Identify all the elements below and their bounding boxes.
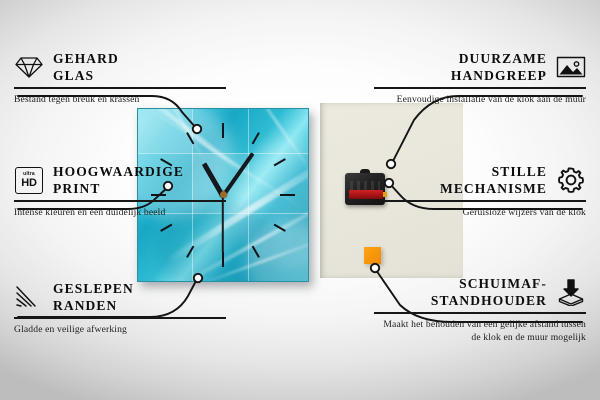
hd-badge-big-label: HD: [21, 178, 37, 189]
feature-title: GEHARD GLAS: [53, 50, 119, 84]
feature-header: SCHUIMAF- STANDHOUDER: [374, 275, 586, 309]
feature-title: HOOGWAARDIGE PRINT: [53, 163, 184, 197]
feature-mechanisme: STILLE MECHANISME Geruisloze wijzers van…: [374, 163, 586, 219]
feature-description: Bestand tegen breuk en krassen: [14, 93, 226, 106]
ultra-hd-badge-icon: ultra HD: [14, 165, 44, 195]
diagonal-lines-icon: [14, 282, 44, 312]
feature-divider: [374, 87, 586, 89]
feature-description: Intense kleuren en een duidelijk beeld: [14, 206, 226, 219]
feature-divider: [374, 312, 586, 314]
product-infographic: GEHARD GLAS Bestand tegen breuk en krass…: [0, 0, 600, 400]
feature-header: ultra HD HOOGWAARDIGE PRINT: [14, 163, 226, 197]
clock-tick-3: [280, 194, 295, 196]
diamond-icon: [14, 52, 44, 82]
foam-spacer-pad: [364, 247, 381, 264]
feature-header: STILLE MECHANISME: [374, 163, 586, 197]
feature-description: Eenvoudige installatie van de klok aan d…: [374, 93, 586, 106]
arrow-down-pad-icon: [556, 277, 586, 307]
feature-divider: [14, 200, 226, 202]
clock-tick-1: [252, 132, 260, 144]
gear-icon: [556, 165, 586, 195]
hd-badge: ultra HD: [15, 167, 43, 194]
hd-badge-small-label: ultra: [23, 172, 35, 177]
feature-title: DUURZAME HANDGREEP: [451, 50, 547, 84]
feature-divider: [14, 317, 226, 319]
feature-handgreep: DUURZAME HANDGREEP Eenvoudige installati…: [374, 50, 586, 106]
feature-title: STILLE MECHANISME: [440, 163, 547, 197]
feature-divider: [374, 200, 586, 202]
glass-reflection-line: [248, 109, 249, 281]
clock-tick-6: [222, 252, 224, 267]
clock-tick-12: [222, 123, 224, 138]
feature-header: GEHARD GLAS: [14, 50, 226, 84]
feature-title: GESLEPEN RANDEN: [53, 280, 134, 314]
feature-header: GESLEPEN RANDEN: [14, 280, 226, 314]
feature-title: SCHUIMAF- STANDHOUDER: [431, 275, 547, 309]
glass-reflection-pane: [138, 109, 192, 153]
feature-gehard-glas: GEHARD GLAS Bestand tegen breuk en krass…: [14, 50, 226, 106]
feature-description: Gladde en veilige afwerking: [14, 323, 226, 336]
feature-hd-print: ultra HD HOOGWAARDIGE PRINT Intense kleu…: [14, 163, 226, 219]
feature-header: DUURZAME HANDGREEP: [374, 50, 586, 84]
feature-description: Maakt het behouden van een gelijke afsta…: [374, 318, 586, 344]
picture-frame-icon: [556, 52, 586, 82]
feature-divider: [14, 87, 226, 89]
feature-description: Geruisloze wijzers van de klok: [374, 206, 586, 219]
feature-standhouder: SCHUIMAF- STANDHOUDER Maakt het behouden…: [374, 275, 586, 344]
feature-geslepen-randen: GESLEPEN RANDEN Gladde en veilige afwerk…: [14, 280, 226, 336]
